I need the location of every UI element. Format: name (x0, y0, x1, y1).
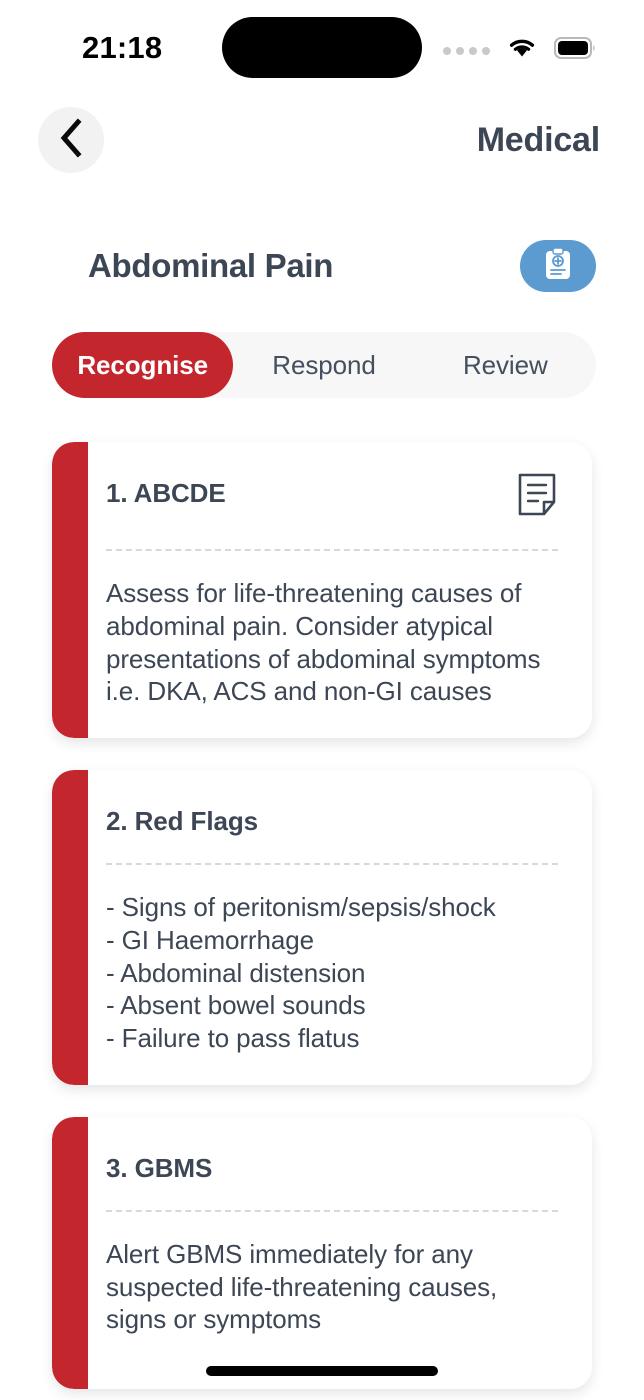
card-gbms[interactable]: 3. GBMS Alert GBMS immediately for any s… (52, 1117, 592, 1389)
card-accent-bar (52, 442, 88, 738)
card-abcde[interactable]: 1. ABCDE Assess for life-threatening cau… (52, 442, 592, 738)
card-header: 3. GBMS (106, 1153, 558, 1184)
wifi-icon (506, 36, 538, 65)
phone-screen: 21:18 (0, 0, 644, 1400)
tab-respond[interactable]: Respond (233, 332, 414, 398)
card-divider (106, 549, 558, 551)
home-indicator[interactable] (206, 1366, 438, 1376)
card-text: - Signs of peritonism/sepsis/shock - GI … (106, 891, 558, 1055)
tab-review[interactable]: Review (415, 332, 596, 398)
battery-icon (554, 37, 596, 64)
chevron-left-icon (58, 118, 84, 163)
status-indicators (443, 36, 596, 65)
card-divider (106, 1210, 558, 1212)
card-body: 3. GBMS Alert GBMS immediately for any s… (88, 1117, 592, 1389)
card-header: 1. ABCDE (106, 478, 558, 523)
card-title: 1. ABCDE (106, 478, 226, 509)
card-divider (106, 863, 558, 865)
card-title: 3. GBMS (106, 1153, 212, 1184)
card-accent-bar (52, 1117, 88, 1389)
tab-recognise[interactable]: Recognise (52, 332, 233, 398)
card-header: 2. Red Flags (106, 806, 558, 837)
card-red-flags[interactable]: 2. Red Flags - Signs of peritonism/sepsi… (52, 770, 592, 1085)
medical-record-button[interactable] (520, 240, 596, 292)
note-document-icon[interactable] (516, 472, 558, 523)
status-time: 21:18 (82, 30, 162, 66)
page-title: Abdominal Pain (88, 247, 333, 285)
nav-bar: Medical (0, 92, 644, 188)
card-text: Alert GBMS immediately for any suspected… (106, 1238, 558, 1336)
dynamic-island (222, 17, 422, 78)
clipboard-medical-icon (543, 247, 573, 286)
status-bar: 21:18 (0, 0, 644, 92)
back-button[interactable] (38, 107, 104, 173)
card-accent-bar (52, 770, 88, 1085)
signal-dots-icon (443, 47, 490, 55)
tab-bar: Recognise Respond Review (52, 332, 596, 398)
card-body: 1. ABCDE Assess for life-threatening cau… (88, 442, 592, 738)
card-list: 1. ABCDE Assess for life-threatening cau… (0, 442, 644, 1389)
card-text: Assess for life-threatening causes of ab… (106, 577, 558, 708)
card-body: 2. Red Flags - Signs of peritonism/sepsi… (88, 770, 592, 1085)
card-title: 2. Red Flags (106, 806, 258, 837)
nav-title: Medical (477, 121, 600, 160)
page-heading-row: Abdominal Pain (0, 240, 644, 292)
